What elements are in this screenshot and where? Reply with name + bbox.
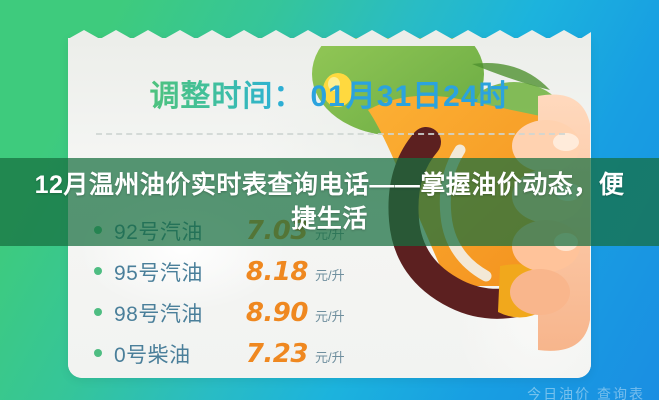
- bullet-dot-icon: [94, 267, 102, 275]
- watermark-text: 今日油价 查询表: [527, 384, 645, 400]
- adjust-time-label: 调整时间：: [149, 80, 304, 113]
- fuel-name: 98号汽油: [114, 298, 232, 328]
- fuel-price-row: 0号柴油 7.23 元/升: [94, 339, 345, 378]
- fuel-price: 8.18: [232, 257, 308, 287]
- adjust-time-value: 01月31日24时: [310, 80, 509, 113]
- overlay-title: 12月温州油价实时表查询电话——掌握油价动态，便捷生活: [30, 168, 630, 236]
- bullet-dot-icon: [94, 308, 102, 316]
- title-overlay-band: 12月温州油价实时表查询电话——掌握油价动态，便捷生活: [0, 158, 659, 246]
- bullet-dot-icon: [94, 349, 102, 357]
- price-unit: 元/升: [315, 347, 345, 366]
- dashed-divider: [96, 133, 565, 135]
- fuel-name: 95号汽油: [114, 257, 232, 287]
- price-unit: 元/升: [315, 265, 345, 284]
- fuel-price-row: 98号汽油 8.90 元/升: [94, 298, 345, 339]
- fuel-price: 7.23: [232, 339, 308, 369]
- fuel-name: 0号柴油: [114, 339, 232, 369]
- poster-canvas: 调整时间：01月31日24时 92号汽油 7.03 元/升 95号汽油 8.18…: [0, 0, 659, 400]
- fuel-price: 8.90: [232, 298, 308, 328]
- price-unit: 元/升: [315, 306, 345, 325]
- fuel-price-row: 95号汽油 8.18 元/升: [94, 257, 345, 298]
- adjust-time-line: 调整时间：01月31日24时: [68, 71, 591, 115]
